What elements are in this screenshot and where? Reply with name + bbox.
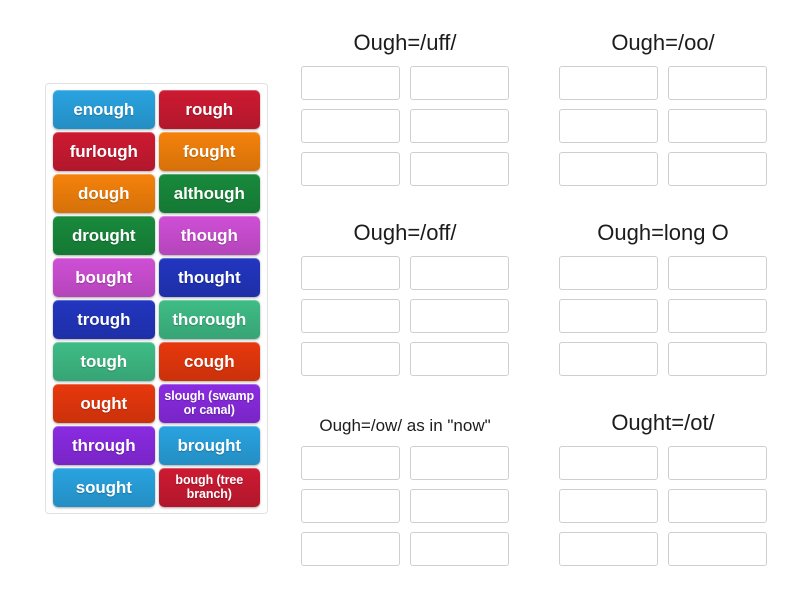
dropzone[interactable] bbox=[301, 256, 400, 290]
dropzone-grid bbox=[285, 66, 525, 186]
dropzone[interactable] bbox=[668, 256, 767, 290]
category-title: Ough=/ow/ as in "now" bbox=[285, 396, 525, 446]
word-tile[interactable]: enough bbox=[53, 90, 155, 129]
dropzone[interactable] bbox=[559, 109, 658, 143]
word-tile[interactable]: dough bbox=[53, 174, 155, 213]
word-tile[interactable]: slough (swamp or canal) bbox=[159, 384, 261, 423]
word-tile[interactable]: brought bbox=[159, 426, 261, 465]
dropzone-grid bbox=[285, 256, 525, 376]
category-group-area: Ough=/uff/Ough=/oo/Ough=/off/Ough=long O… bbox=[285, 16, 785, 582]
word-tile[interactable]: fought bbox=[159, 132, 261, 171]
activity-stage: enoughroughfurloughfoughtdoughalthoughdr… bbox=[0, 0, 800, 600]
word-tile[interactable]: rough bbox=[159, 90, 261, 129]
category-title: Ough=/oo/ bbox=[543, 16, 783, 66]
dropzone[interactable] bbox=[410, 342, 509, 376]
dropzone-grid bbox=[543, 66, 783, 186]
word-tile[interactable]: although bbox=[159, 174, 261, 213]
dropzone[interactable] bbox=[301, 489, 400, 523]
dropzone[interactable] bbox=[410, 152, 509, 186]
dropzone-grid bbox=[285, 446, 525, 566]
category-title: Ought=/ot/ bbox=[543, 396, 783, 446]
category-title: Ough=long O bbox=[543, 206, 783, 256]
dropzone[interactable] bbox=[668, 66, 767, 100]
word-tile[interactable]: drought bbox=[53, 216, 155, 255]
category-title: Ough=/off/ bbox=[285, 206, 525, 256]
dropzone[interactable] bbox=[410, 489, 509, 523]
category-group: Ough=/uff/ bbox=[285, 16, 525, 206]
category-group: Ough=/off/ bbox=[285, 206, 525, 396]
dropzone[interactable] bbox=[668, 342, 767, 376]
word-tile[interactable]: thorough bbox=[159, 300, 261, 339]
category-group: Ough=long O bbox=[543, 206, 783, 396]
dropzone[interactable] bbox=[410, 532, 509, 566]
dropzone[interactable] bbox=[410, 446, 509, 480]
word-tile[interactable]: bough (tree branch) bbox=[159, 468, 261, 507]
word-tile[interactable]: cough bbox=[159, 342, 261, 381]
dropzone[interactable] bbox=[301, 532, 400, 566]
dropzone[interactable] bbox=[668, 489, 767, 523]
word-tile-tray: enoughroughfurloughfoughtdoughalthoughdr… bbox=[45, 83, 268, 514]
word-tile[interactable]: though bbox=[159, 216, 261, 255]
dropzone[interactable] bbox=[559, 532, 658, 566]
category-group: Ought=/ot/ bbox=[543, 396, 783, 586]
word-tile[interactable]: through bbox=[53, 426, 155, 465]
dropzone[interactable] bbox=[301, 299, 400, 333]
word-tile[interactable]: bought bbox=[53, 258, 155, 297]
dropzone[interactable] bbox=[301, 109, 400, 143]
word-tile[interactable]: thought bbox=[159, 258, 261, 297]
dropzone[interactable] bbox=[559, 342, 658, 376]
dropzone[interactable] bbox=[559, 446, 658, 480]
category-title: Ough=/uff/ bbox=[285, 16, 525, 66]
word-tile[interactable]: trough bbox=[53, 300, 155, 339]
dropzone[interactable] bbox=[301, 446, 400, 480]
dropzone[interactable] bbox=[301, 342, 400, 376]
dropzone[interactable] bbox=[559, 152, 658, 186]
dropzone[interactable] bbox=[301, 66, 400, 100]
word-tile[interactable]: tough bbox=[53, 342, 155, 381]
dropzone[interactable] bbox=[559, 66, 658, 100]
dropzone[interactable] bbox=[668, 109, 767, 143]
word-tile-grid: enoughroughfurloughfoughtdoughalthoughdr… bbox=[53, 90, 260, 507]
dropzone[interactable] bbox=[668, 446, 767, 480]
dropzone[interactable] bbox=[410, 66, 509, 100]
dropzone[interactable] bbox=[410, 256, 509, 290]
dropzone[interactable] bbox=[301, 152, 400, 186]
category-group: Ough=/ow/ as in "now" bbox=[285, 396, 525, 586]
dropzone[interactable] bbox=[559, 489, 658, 523]
dropzone[interactable] bbox=[410, 109, 509, 143]
dropzone-grid bbox=[543, 256, 783, 376]
dropzone-grid bbox=[543, 446, 783, 566]
dropzone[interactable] bbox=[668, 299, 767, 333]
dropzone[interactable] bbox=[668, 152, 767, 186]
word-tile[interactable]: sought bbox=[53, 468, 155, 507]
dropzone[interactable] bbox=[668, 532, 767, 566]
dropzone[interactable] bbox=[559, 299, 658, 333]
dropzone[interactable] bbox=[410, 299, 509, 333]
dropzone[interactable] bbox=[559, 256, 658, 290]
word-tile[interactable]: furlough bbox=[53, 132, 155, 171]
word-tile[interactable]: ought bbox=[53, 384, 155, 423]
category-group: Ough=/oo/ bbox=[543, 16, 783, 206]
